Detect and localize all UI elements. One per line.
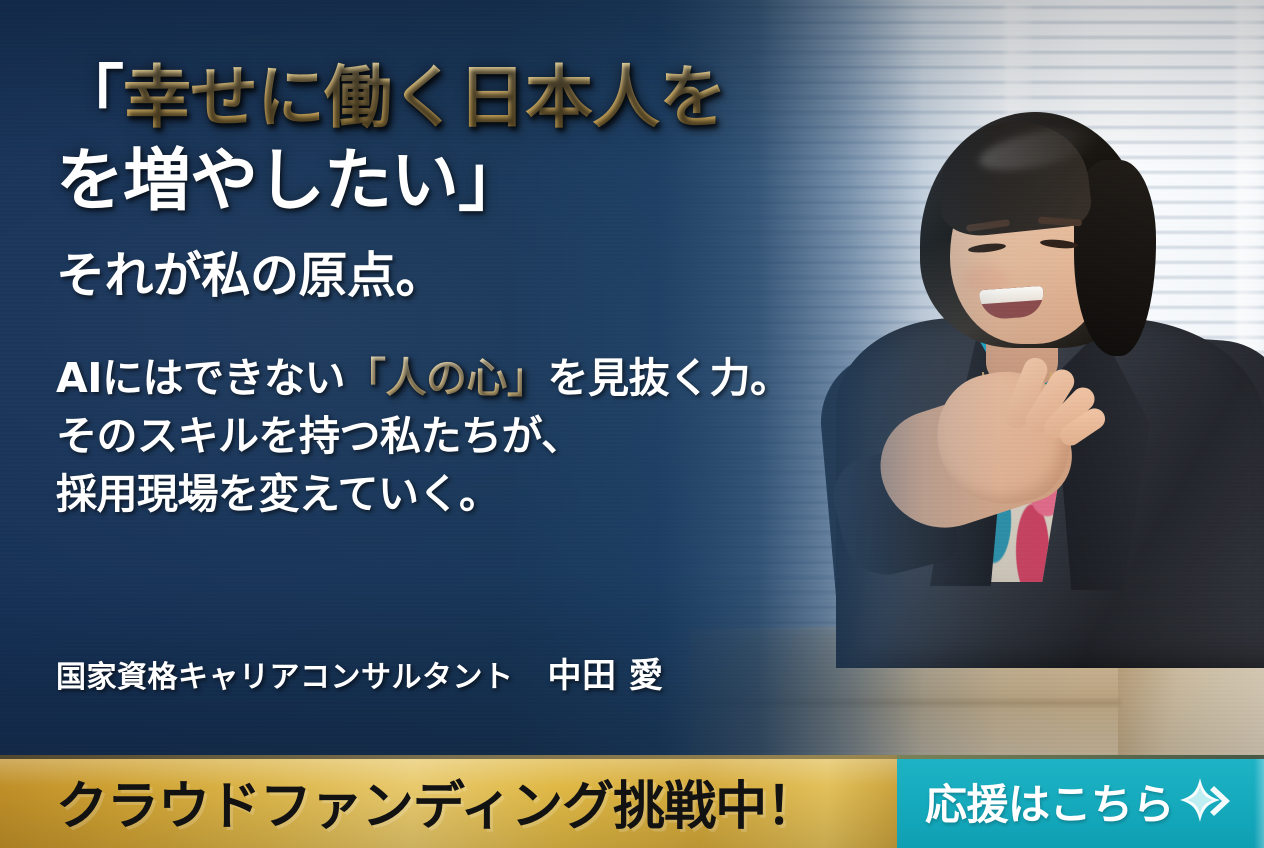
banner-top-rule (0, 755, 1264, 759)
headline-line-2: を増やしたい」 (56, 145, 856, 220)
bottom-banner: クラウドファンディング挑戦中！ 応援はこちら (0, 755, 1264, 848)
person-name: 中田 愛 (548, 656, 664, 696)
campaign-band: クラウドファンディング挑戦中！ (0, 755, 897, 848)
body-line-1: AIにはできない「人の心」を見抜く力。 (56, 349, 856, 407)
headline-subline: それが私の原点。 (56, 236, 856, 307)
support-cta-button[interactable]: 応援はこちら (897, 755, 1264, 848)
body-line-1-prefix: AIにはできない (56, 354, 345, 402)
body-line-3: 採用現場を変えていく。 (56, 465, 856, 523)
promotional-banner: 「幸せに働く日本人を を増やしたい」 それが私の原点。 AIにはできない「人の心… (0, 0, 1264, 848)
cta-edge-highlight (1254, 755, 1264, 848)
body-copy: AIにはできない「人の心」を見抜く力。 そのスキルを持つ私たちが、 採用現場を変… (56, 349, 856, 524)
headline-line-1: 「幸せに働く日本人を (56, 62, 856, 137)
body-line-2: そのスキルを持つ私たちが、 (56, 407, 856, 465)
body-line-1-suffix: を見抜く力。 (548, 354, 791, 402)
open-quote-bracket: 「 (56, 59, 123, 138)
headline-gold-text: 幸せに働く日本人を (123, 59, 726, 138)
campaign-text: クラウドファンディング挑戦中！ (56, 764, 817, 839)
copy-block: 「幸せに働く日本人を を増やしたい」 それが私の原点。 AIにはできない「人の心… (56, 62, 856, 523)
credential-title: 国家資格キャリアコンサルタント (56, 660, 514, 695)
sparkle-icon (1174, 774, 1236, 830)
cta-label: 応援はこちら (925, 771, 1174, 832)
credit-line: 国家資格キャリアコンサルタント中田 愛 (56, 648, 663, 697)
body-line-1-highlight: 「人の心」 (345, 354, 548, 402)
